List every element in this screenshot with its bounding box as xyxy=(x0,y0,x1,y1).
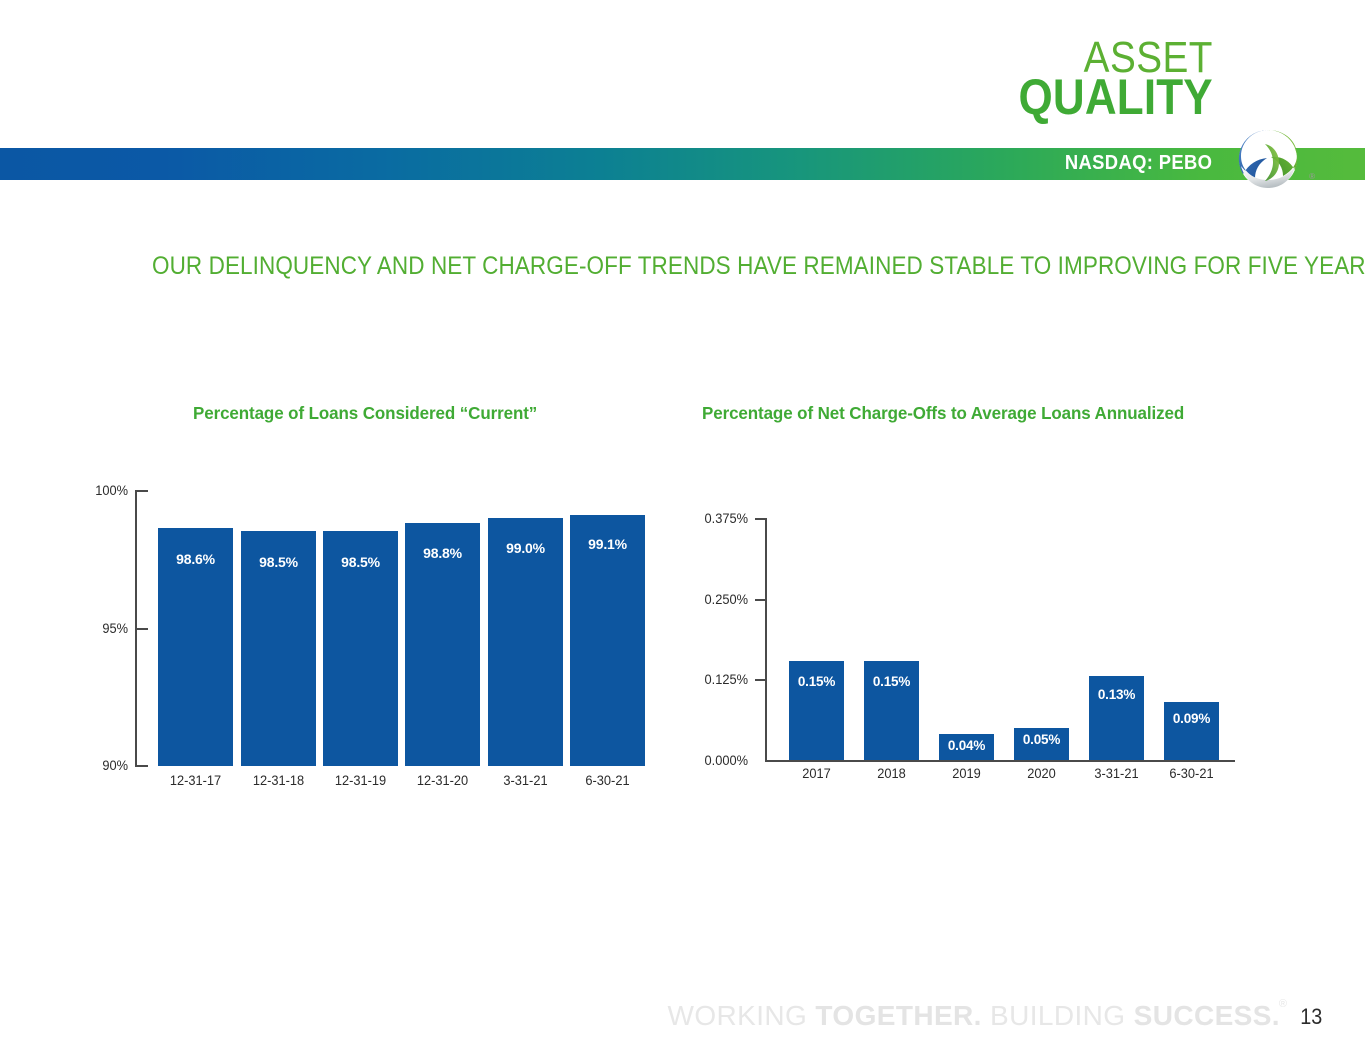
y-axis-line-right xyxy=(765,518,767,761)
y-tick-label-0250: 0.250% xyxy=(676,592,748,607)
y-tick-0250 xyxy=(755,599,767,601)
footer-tagline-part-3: BUILDING xyxy=(982,1000,1134,1031)
bar-label-2020: 0.05% xyxy=(1011,732,1072,747)
y-tick-label-0125: 0.125% xyxy=(676,672,748,687)
bar-label-2017: 0.15% xyxy=(786,674,847,689)
y-tick-label-0000: 0.000% xyxy=(676,753,748,768)
plot-area-net-charge-offs: 0.375% 0.250% 0.125% 0.000% 0.15% 0.15% … xyxy=(0,0,1365,1062)
y-tick-0375 xyxy=(755,518,767,520)
footer-registered-mark: ® xyxy=(1279,998,1287,1010)
bar-label-2018: 0.15% xyxy=(861,674,922,689)
footer-tagline-part-2: TOGETHER. xyxy=(815,1000,981,1031)
x-tick-label-2017: 2017 xyxy=(783,766,850,781)
bar-label-6-30-21-right: 0.09% xyxy=(1161,711,1222,726)
x-tick-label-2018: 2018 xyxy=(858,766,925,781)
bar-label-3-31-21-right: 0.13% xyxy=(1086,687,1147,702)
footer-tagline-part-1: WORKING xyxy=(668,1000,816,1031)
x-tick-label-3-31-21-right: 3-31-21 xyxy=(1083,766,1150,781)
x-tick-label-6-30-21-right: 6-30-21 xyxy=(1158,766,1225,781)
y-tick-0125 xyxy=(755,679,767,681)
x-axis-line-right xyxy=(765,760,1235,762)
footer-tagline-part-4: SUCCESS. xyxy=(1134,1000,1280,1031)
page-number: 13 xyxy=(1300,1004,1322,1030)
chart-net-charge-offs: Percentage of Net Charge-Offs to Average… xyxy=(0,0,1365,1062)
x-tick-label-2019: 2019 xyxy=(933,766,1000,781)
x-tick-label-2020: 2020 xyxy=(1008,766,1075,781)
footer-tagline: WORKING TOGETHER. BUILDING SUCCESS. xyxy=(668,1000,1280,1032)
y-tick-label-0375: 0.375% xyxy=(676,511,748,526)
bar-label-2019: 0.04% xyxy=(936,738,997,753)
